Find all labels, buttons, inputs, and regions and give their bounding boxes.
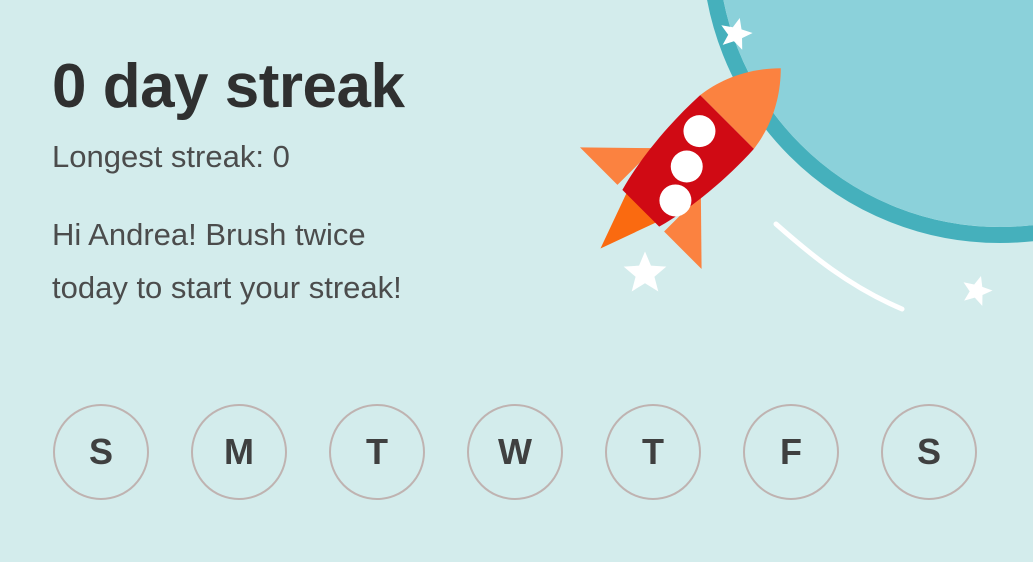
planet-icon: [710, 0, 1033, 235]
encouragement-line-1: Hi Andrea! Brush twice: [52, 217, 366, 252]
rocket-fin-right: [664, 195, 738, 269]
day-letter: S: [89, 434, 113, 470]
rocket-nose-cone: [700, 41, 807, 148]
planet-ring-circle: [710, 0, 1033, 235]
planet-body-circle: [718, 0, 1033, 227]
day-circle-wednesday[interactable]: W: [467, 404, 563, 500]
star-icon-left: [624, 252, 667, 292]
encouragement-line-2: today to start your streak!: [52, 270, 402, 305]
star-icon-right: [959, 272, 996, 307]
day-circle-sunday[interactable]: S: [53, 404, 149, 500]
streak-card: 0 day streak Longest streak: 0 Hi Andrea…: [0, 0, 1033, 562]
smoke-trail-icon: [776, 224, 902, 309]
day-circle-tuesday[interactable]: T: [329, 404, 425, 500]
day-letter: F: [780, 434, 802, 470]
day-letter: M: [224, 434, 254, 470]
day-letter: S: [917, 434, 941, 470]
rocket-body: [614, 95, 755, 236]
rocket-window-2: [664, 144, 709, 189]
day-letter: T: [642, 434, 664, 470]
rocket-window-1: [677, 109, 722, 154]
week-strip: SMTWTFS: [53, 404, 977, 500]
day-letter: T: [366, 434, 388, 470]
rocket-window-3: [653, 178, 698, 223]
streak-text-block: 0 day streak Longest streak: 0 Hi Andrea…: [52, 56, 612, 315]
day-letter: W: [498, 434, 532, 470]
star-icon-top: [717, 14, 756, 51]
page-title: 0 day streak: [52, 56, 612, 118]
longest-streak-label: Longest streak: 0: [52, 118, 612, 174]
day-circle-saturday[interactable]: S: [881, 404, 977, 500]
day-circle-friday[interactable]: F: [743, 404, 839, 500]
day-circle-thursday[interactable]: T: [605, 404, 701, 500]
encouragement-message: Hi Andrea! Brush twice today to start yo…: [52, 174, 532, 315]
day-circle-monday[interactable]: M: [191, 404, 287, 500]
